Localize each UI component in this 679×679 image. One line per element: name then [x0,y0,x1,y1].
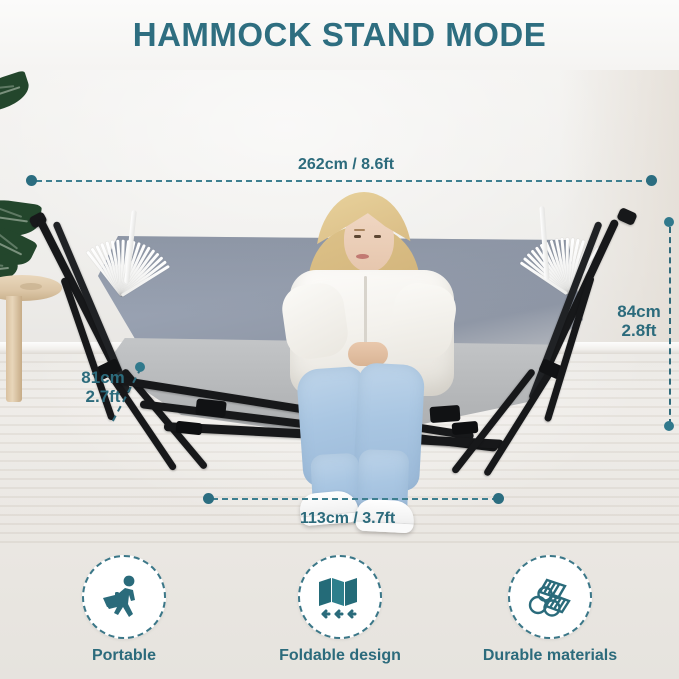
rope-fan-right [522,208,603,303]
feature-icon-circle [508,555,592,639]
feature-portable[interactable]: Portable [24,555,224,665]
features-row: Portable Foldable design [0,545,679,679]
feature-durable[interactable]: Durable materials [450,555,650,665]
dimension-label-height-low: 81cm 2.7ft [72,368,134,406]
eye-left [354,235,361,238]
dimension-low-ft: 2.7ft [72,387,134,406]
base-foot-left [175,421,202,436]
dimension-line-top [36,180,652,182]
hoodie-zipper [364,276,367,350]
feature-label: Portable [24,647,224,665]
dimension-height-cm: 84cm [612,302,666,321]
page-title: HAMMOCK STAND MODE [133,16,547,54]
feature-icon-circle [82,555,166,639]
dimension-dot-right-top [664,217,674,227]
product-photo-scene: 262cm / 8.6ft 84cm 2.8ft 81cm 2.7ft 113c… [0,70,679,545]
table-leg [6,296,22,402]
dimension-low-cm: 81cm [72,368,134,387]
lips [356,254,369,259]
dimension-dot-bottom-right [493,493,504,504]
dimension-dot-right-bottom [664,421,674,431]
hands [348,342,388,366]
portable-person-carry-icon [99,574,149,620]
dimension-dot-left [135,362,145,372]
product-infographic: HAMMOCK STAND MODE [0,0,679,679]
table-detail [20,283,42,290]
header-banner: HAMMOCK STAND MODE [0,0,679,70]
person-sitting [282,192,458,532]
dimension-height-ft: 2.8ft [612,321,666,340]
dimension-label-width: 113cm / 3.7ft [300,510,395,528]
stacked-tubes-icon [525,574,575,620]
feature-icon-circle [298,555,382,639]
dimension-line-right [669,227,671,425]
eye-right [374,235,381,238]
dimension-dot-bottom-left [203,493,214,504]
base-joint-left [195,398,227,417]
eyebrow [354,229,365,231]
dimension-line-bottom [212,498,498,500]
foldable-panels-icon [315,573,365,621]
dimension-dot-top-left [26,175,37,186]
feature-foldable[interactable]: Foldable design [240,555,440,665]
dimension-label-length: 262cm / 8.6ft [298,156,394,174]
dimension-dot-top-right [646,175,657,186]
feature-label: Durable materials [450,647,650,665]
feature-label: Foldable design [240,647,440,665]
dimension-label-height: 84cm 2.8ft [612,302,666,340]
